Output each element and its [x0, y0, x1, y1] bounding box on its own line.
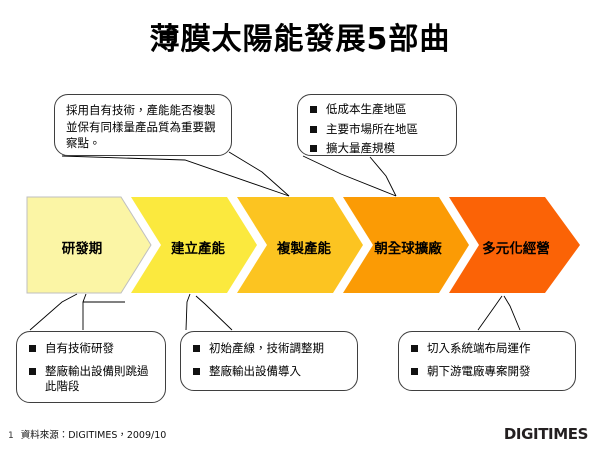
list-item: 切入系統端布局運作: [410, 341, 565, 357]
list-item-label: 自有技術研發: [45, 341, 114, 355]
callout-top-left-text: 採用自有技術，產能能否複製並保有同樣量產品質為重要觀察點。: [66, 102, 221, 152]
list-item-label: 主要市場所在地區: [326, 122, 418, 136]
callout-bottom-2[interactable]: 初始產線，技術調整期 整廠輸出設備導入: [180, 331, 358, 391]
bullet-square-icon: [193, 345, 200, 352]
bullet-square-icon: [310, 126, 317, 133]
callout-bottom-1-list: 自有技術研發 整廠輸出設備則跳過此階段: [28, 341, 155, 395]
slide-canvas: 薄膜太陽能發展5部曲 研發期 建立產能 複製產能 朝全球擴廠 多元化經營: [0, 0, 600, 450]
bullet-square-icon: [310, 145, 317, 152]
list-item-label: 初始產線，技術調整期: [209, 341, 324, 355]
chevron-label-4: 朝全球擴廠: [352, 237, 464, 257]
bullet-square-icon: [193, 368, 200, 375]
list-item: 主要市場所在地區: [309, 122, 446, 138]
list-item-label: 擴大量產規模: [326, 141, 395, 155]
list-item-label: 整廠輸出設備則跳過此階段: [45, 364, 149, 394]
bullet-square-icon: [411, 368, 418, 375]
callout-top-right-list: 低成本生產地區 主要市場所在地區 擴大量產規模: [309, 102, 446, 157]
callout-bottom-3-list: 切入系統端布局運作 朝下游電廠專案開發: [410, 341, 565, 379]
chevron-label-5: 多元化經營: [460, 237, 572, 257]
callout-top-right[interactable]: 低成本生產地區 主要市場所在地區 擴大量產規模: [297, 94, 457, 156]
list-item: 初始產線，技術調整期: [192, 341, 347, 357]
list-item-label: 低成本生產地區: [326, 102, 407, 116]
list-item: 整廠輸出設備導入: [192, 364, 347, 380]
list-item-label: 朝下游電廠專案開發: [427, 364, 531, 378]
callout-bottom-3[interactable]: 切入系統端布局運作 朝下游電廠專案開發: [398, 331, 576, 391]
list-item-label: 整廠輸出設備導入: [209, 364, 301, 378]
chevron-label-1: 研發期: [27, 237, 137, 257]
list-item: 朝下游電廠專案開發: [410, 364, 565, 380]
list-item: 整廠輸出設備則跳過此階段: [28, 364, 155, 395]
list-item-label: 切入系統端布局運作: [427, 341, 531, 355]
callout-bottom-2-list: 初始產線，技術調整期 整廠輸出設備導入: [192, 341, 347, 379]
list-item: 自有技術研發: [28, 341, 155, 357]
bullet-square-icon: [29, 345, 36, 352]
callout-bottom-1[interactable]: 自有技術研發 整廠輸出設備則跳過此階段: [16, 331, 166, 403]
chevron-label-2: 建立產能: [146, 237, 250, 257]
chevron-label-3: 複製產能: [252, 237, 356, 257]
bullet-square-icon: [411, 345, 418, 352]
list-item: 低成本生產地區: [309, 102, 446, 118]
list-item: 擴大量產規模: [309, 141, 446, 157]
bullet-square-icon: [29, 368, 36, 375]
callout-top-left[interactable]: 採用自有技術，產能能否複製並保有同樣量產品質為重要觀察點。: [54, 94, 232, 156]
bullet-square-icon: [310, 106, 317, 113]
